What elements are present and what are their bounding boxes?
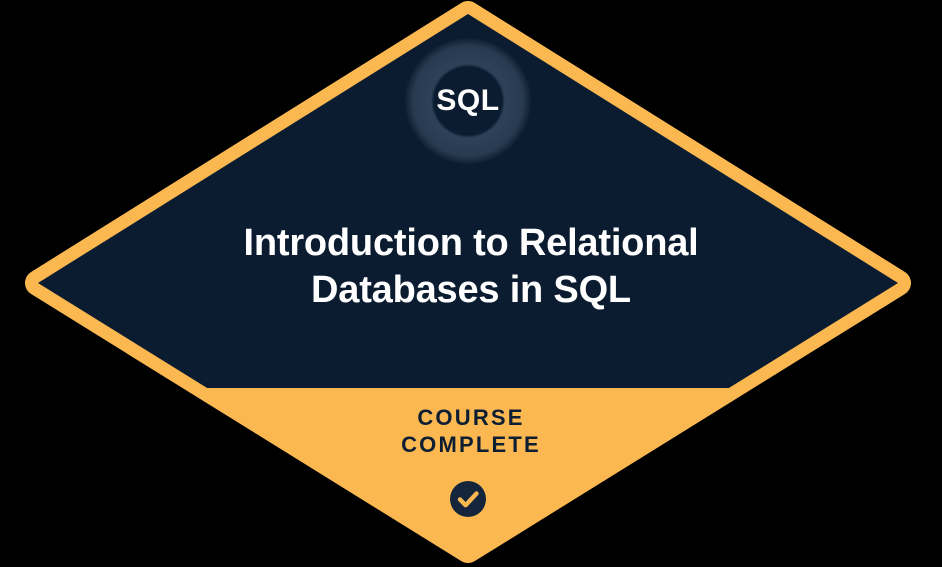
badge-footer-band <box>0 388 942 567</box>
badge-interior-top <box>0 0 942 388</box>
badge-shape <box>0 0 942 567</box>
check-circle-icon <box>450 481 486 517</box>
course-completion-badge: SQL Introduction to Relational Databases… <box>0 0 942 567</box>
